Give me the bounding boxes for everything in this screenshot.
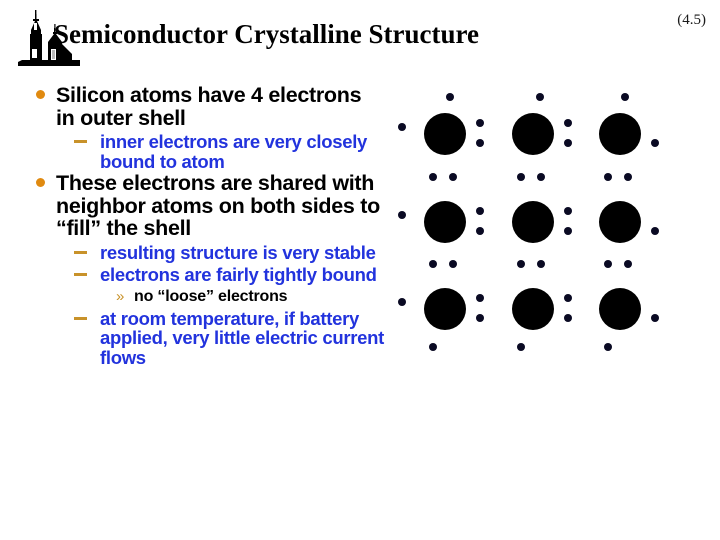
electron-dot: [537, 260, 545, 268]
electron-dot: [651, 227, 659, 235]
electron-dot: [624, 173, 632, 181]
atom-node: [424, 201, 466, 243]
bullet-text: electrons are fairly tightly bound: [100, 264, 377, 285]
bullet-text: These electrons are shared with neighbor…: [56, 171, 380, 240]
electron-dot: [517, 343, 525, 351]
electron-dot: [604, 260, 612, 268]
bullet-text: Silicon atoms have 4 electrons in outer …: [56, 83, 361, 130]
electron-dot: [429, 173, 437, 181]
electron-dot: [476, 294, 484, 302]
slide-canvas: Semiconductor Crystalline Structure (4.5…: [0, 0, 720, 540]
electron-dot: [604, 173, 612, 181]
atom-node: [512, 201, 554, 243]
dash-icon: [74, 273, 87, 276]
atom-node: [599, 113, 641, 155]
bullet-text: no “loose” electrons: [134, 288, 287, 305]
electron-dot: [476, 119, 484, 127]
atom-node: [599, 288, 641, 330]
electron-dot: [564, 227, 572, 235]
electron-dot: [651, 314, 659, 322]
electron-dot: [429, 260, 437, 268]
page-title: Semiconductor Crystalline Structure: [54, 18, 624, 50]
electron-dot: [564, 294, 572, 302]
electron-dot: [476, 139, 484, 147]
electron-dot: [564, 314, 572, 322]
page-number: (4.5): [677, 12, 706, 29]
atom-node: [424, 288, 466, 330]
bullet-item-5: electrons are fairly tightly bound: [24, 265, 384, 285]
bullet-item-1: Silicon atoms have 4 electrons in outer …: [24, 84, 384, 129]
electron-dot: [398, 123, 406, 131]
outline-body: Silicon atoms have 4 electrons in outer …: [24, 84, 384, 368]
bullet-text: at room temperature, if battery applied,…: [100, 308, 384, 368]
bullet-dot-icon: [36, 90, 45, 99]
bullet-text: resulting structure is very stable: [100, 242, 376, 263]
electron-dot: [564, 207, 572, 215]
electron-dot: [536, 93, 544, 101]
electron-dot: [624, 260, 632, 268]
electron-dot: [446, 93, 454, 101]
electron-dot: [604, 343, 612, 351]
double-chevron-icon: »: [116, 288, 124, 306]
atom-node: [512, 113, 554, 155]
electron-dot: [449, 260, 457, 268]
dash-icon: [74, 251, 87, 254]
bullet-item-7: at room temperature, if battery applied,…: [24, 309, 384, 368]
bullet-item-4: resulting structure is very stable: [24, 243, 384, 263]
bullet-item-3: These electrons are shared with neighbor…: [24, 172, 384, 240]
electron-dot: [398, 298, 406, 306]
electron-dot: [476, 207, 484, 215]
bullet-item-2: inner electrons are very closely bound t…: [24, 132, 384, 171]
silicon-crystal-lattice-diagram: [390, 80, 680, 365]
electron-dot: [398, 211, 406, 219]
electron-dot: [621, 93, 629, 101]
electron-dot: [564, 139, 572, 147]
electron-dot: [537, 173, 545, 181]
electron-dot: [476, 314, 484, 322]
atom-node: [424, 113, 466, 155]
electron-dot: [651, 139, 659, 147]
bullet-item-6: » no “loose” electrons: [24, 288, 384, 306]
dash-icon: [74, 140, 87, 143]
electron-dot: [564, 119, 572, 127]
electron-dot: [429, 343, 437, 351]
atom-node: [512, 288, 554, 330]
electron-dot: [476, 227, 484, 235]
bullet-text: inner electrons are very closely bound t…: [100, 131, 367, 172]
dash-icon: [74, 317, 87, 320]
atom-node: [599, 201, 641, 243]
electron-dot: [517, 260, 525, 268]
electron-dot: [517, 173, 525, 181]
electron-dot: [449, 173, 457, 181]
bullet-dot-icon: [36, 178, 45, 187]
